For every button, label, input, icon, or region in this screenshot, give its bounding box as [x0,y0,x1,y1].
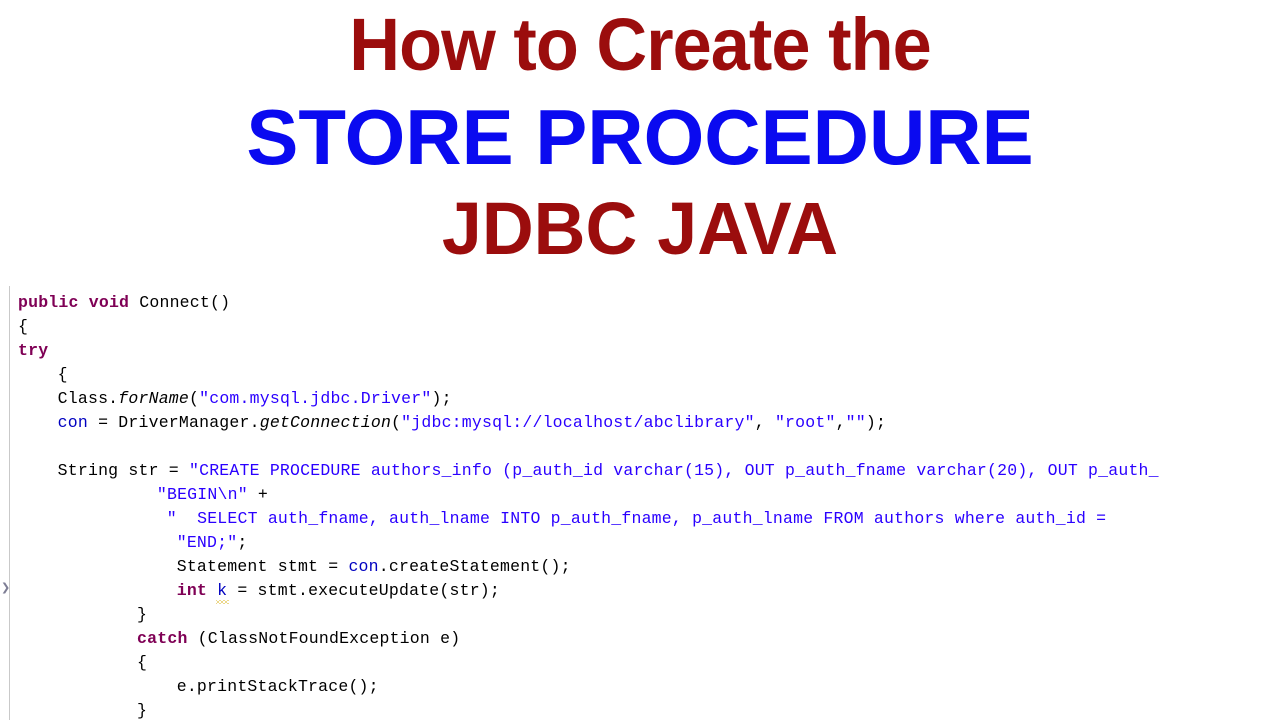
code-token: "CREATE PROCEDURE authors_info (p_auth_i… [189,461,1159,480]
code-token: = DriverManager. [88,413,260,432]
code-token: ); [431,389,451,408]
code-token: ( [189,389,199,408]
code-line[interactable]: } [0,699,147,720]
code-line[interactable]: con = DriverManager.getConnection("jdbc:… [0,411,886,435]
code-token: con [348,557,378,576]
code-token: k [217,581,227,600]
code-token: getConnection [260,413,391,432]
code-token [79,293,89,312]
code-token: ; [237,533,247,552]
code-token: { [18,317,28,336]
code-token: "root" [775,413,836,432]
code-token: void [89,293,129,312]
code-token: String str = [58,461,189,480]
code-token: "com.mysql.jdbc.Driver" [199,389,431,408]
code-line[interactable]: int k = stmt.executeUpdate(str); [0,579,500,603]
code-token: { [137,653,147,672]
code-line[interactable]: catch (ClassNotFoundException e) [0,627,460,651]
code-token: "" [846,413,866,432]
code-line[interactable]: Statement stmt = con.createStatement(); [0,555,571,579]
title-line-primary: How to Create the [32,8,1248,82]
code-token: forName [118,389,189,408]
code-line[interactable]: Class.forName("com.mysql.jdbc.Driver"); [0,387,452,411]
code-token: , [755,413,775,432]
code-token: .createStatement(); [379,557,571,576]
code-editor[interactable]: ❯ public void Connect(){try{Class.forNam… [0,286,1280,720]
code-token: " SELECT auth_fname, auth_lname INTO p_a… [167,509,1117,528]
code-line[interactable]: public void Connect() [0,291,230,315]
code-line[interactable]: try [0,339,48,363]
code-token: "BEGIN\n" [157,485,248,504]
code-line[interactable]: } [0,603,147,627]
code-line[interactable]: e.printStackTrace(); [0,675,379,699]
code-token: ); [866,413,886,432]
code-token: = stmt.executeUpdate(str); [227,581,500,600]
code-token: + [248,485,268,504]
code-token: ( [391,413,401,432]
title-line-secondary: STORE PROCEDURE [0,98,1280,176]
code-token: Class. [58,389,119,408]
video-title-block: How to Create the STORE PROCEDURE JDBC J… [0,0,1280,266]
code-line[interactable]: " SELECT auth_fname, auth_lname INTO p_a… [0,507,1116,531]
code-line[interactable] [0,435,18,459]
code-token: "jdbc:mysql://localhost/abclibrary" [401,413,755,432]
code-line[interactable]: String str = "CREATE PROCEDURE authors_i… [0,459,1159,483]
code-line[interactable]: { [0,651,147,675]
code-token: Connect() [129,293,230,312]
code-token: (ClassNotFoundException e) [188,629,461,648]
code-token: "END;" [177,533,238,552]
code-token: public [18,293,79,312]
code-token: { [58,365,68,384]
code-token: catch [137,629,188,648]
code-token: Statement stmt = [177,557,349,576]
code-line[interactable]: "END;"; [0,531,247,555]
code-token: con [58,413,88,432]
title-line-tertiary: JDBC JAVA [19,192,1261,266]
code-token [207,581,217,600]
code-line[interactable]: "BEGIN\n" + [0,483,268,507]
code-token: try [18,341,48,360]
code-token: , [836,413,846,432]
code-token: } [137,605,147,624]
code-token: } [137,701,147,720]
code-token: int [177,581,207,600]
code-token: e.printStackTrace(); [177,677,379,696]
code-line[interactable]: { [0,363,68,387]
code-line[interactable]: { [0,315,28,339]
